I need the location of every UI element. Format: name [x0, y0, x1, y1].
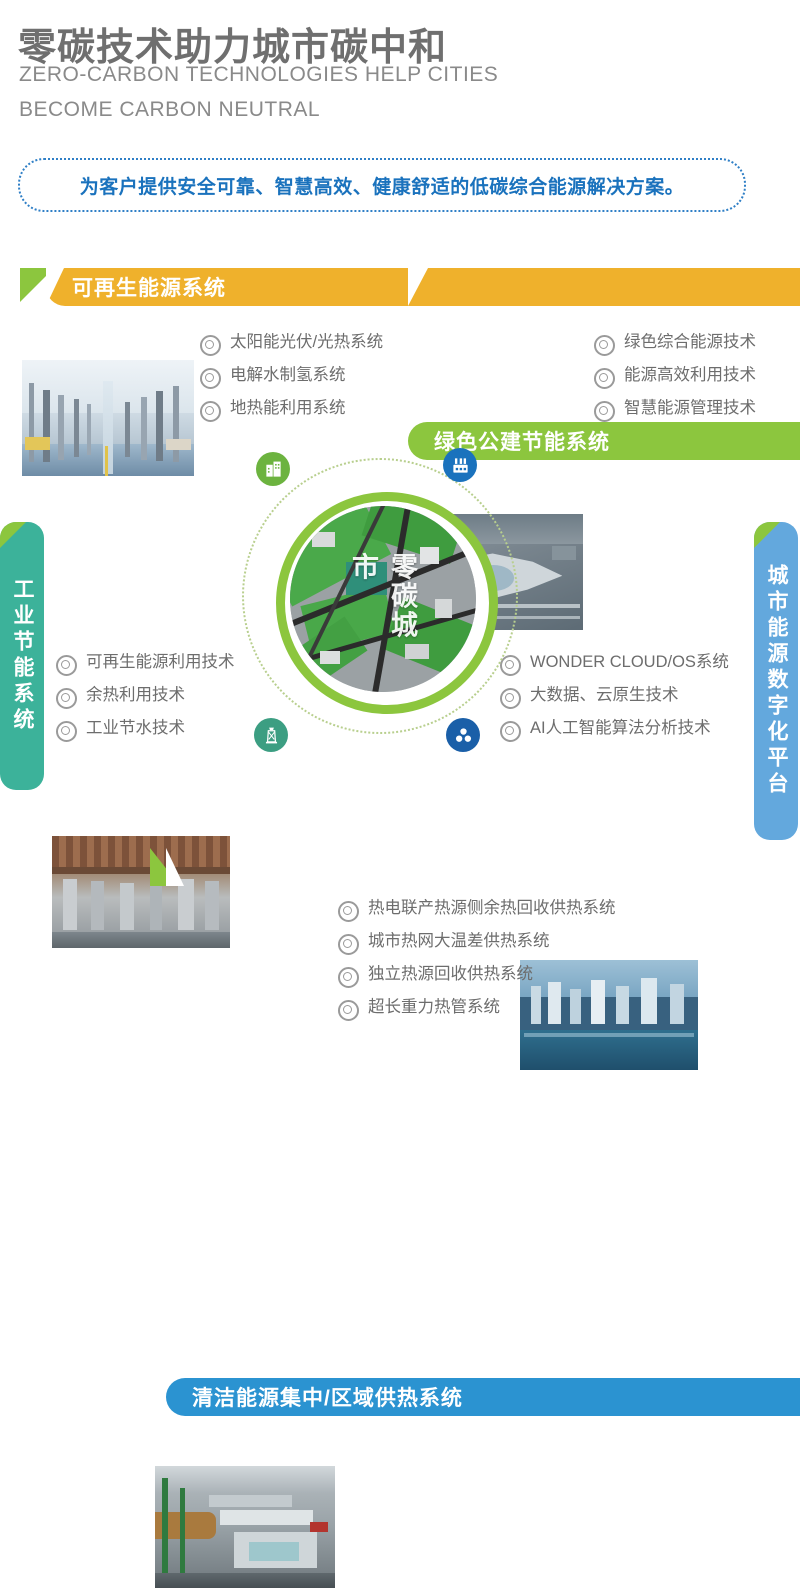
bullet-icon	[200, 335, 221, 356]
bullet-icon	[594, 368, 615, 389]
bullet-icon	[200, 401, 221, 422]
list-item[interactable]: AI人工智能算法分析技术	[500, 718, 729, 742]
industrial-photo	[52, 836, 230, 948]
clean-heating-photo	[155, 1466, 335, 1588]
renewable-label: 可再生能源系统	[72, 272, 226, 302]
renewable-notch	[46, 268, 64, 306]
list-item[interactable]: 太阳能光伏/光热系统	[200, 332, 383, 356]
center-label: 零碳城市	[344, 553, 422, 646]
renewable-photo	[22, 360, 194, 476]
bullet-icon	[56, 655, 77, 676]
bullet-icon	[56, 721, 77, 742]
bullet-icon	[594, 401, 615, 422]
page-subtitle-line1: ZERO-CARBON TECHNOLOGIES HELP CITIES	[19, 63, 498, 87]
list-item[interactable]: 超长重力热管系统	[338, 997, 616, 1021]
list-item[interactable]: 能源高效利用技术	[594, 365, 756, 389]
list-item[interactable]: 热电联产热源侧余热回收供热系统	[338, 898, 616, 922]
center-graphic: 零碳城市	[228, 452, 528, 772]
clean-heating-label: 清洁能源集中/区域供热系统	[192, 1382, 463, 1412]
digital-platform-item-list: WONDER CLOUD/OS系统 大数据、云原生技术 AI人工智能算法分析技术	[500, 652, 729, 751]
slogan-banner: 为客户提供安全可靠、智慧高效、健康舒适的低碳综合能源解决方案。	[18, 158, 746, 212]
slogan-text: 为客户提供安全可靠、智慧高效、健康舒适的低碳综合能源解决方案。	[80, 172, 685, 199]
molecule-icon[interactable]	[446, 718, 480, 752]
bullet-icon	[200, 368, 221, 389]
list-item[interactable]: WONDER CLOUD/OS系统	[500, 652, 729, 676]
clean-heating-notch	[166, 848, 184, 886]
bullet-icon	[594, 335, 615, 356]
industrial-item-list: 可再生能源利用技术 余热利用技术 工业节水技术	[56, 652, 235, 751]
clean-heating-header-pill[interactable]: 清洁能源集中/区域供热系统	[166, 1378, 800, 1416]
list-item[interactable]: 余热利用技术	[56, 685, 235, 709]
bullet-icon	[338, 967, 359, 988]
green-building-notch	[408, 268, 428, 306]
page-subtitle-line2: BECOME CARBON NEUTRAL	[19, 98, 320, 122]
list-item[interactable]: 工业节水技术	[56, 718, 235, 742]
digital-platform-label: 城市能源数字化平台	[761, 564, 791, 798]
digital-platform-vertical-tab[interactable]: 城市能源数字化平台	[754, 522, 798, 840]
list-item[interactable]: 独立热源回收供热系统	[338, 964, 616, 988]
green-building-item-list: 绿色综合能源技术 能源高效利用技术 智慧能源管理技术	[594, 332, 756, 431]
list-item[interactable]: 电解水制氢系统	[200, 365, 383, 389]
list-item[interactable]: 智慧能源管理技术	[594, 398, 756, 422]
list-item[interactable]: 大数据、云原生技术	[500, 685, 729, 709]
bullet-icon	[338, 934, 359, 955]
industrial-label: 工业节能系统	[7, 578, 37, 734]
bullet-icon	[56, 688, 77, 709]
bullet-icon	[338, 901, 359, 922]
list-item[interactable]: 可再生能源利用技术	[56, 652, 235, 676]
city-map-image: 零碳城市	[290, 506, 476, 692]
factory-icon[interactable]	[443, 448, 477, 482]
clean-heating-item-list: 热电联产热源侧余热回收供热系统 城市热网大温差供热系统 独立热源回收供热系统 超…	[338, 898, 616, 1030]
building-icon[interactable]	[256, 452, 290, 486]
industrial-green-accent	[0, 522, 26, 548]
bullet-icon	[338, 1000, 359, 1021]
list-item[interactable]: 绿色综合能源技术	[594, 332, 756, 356]
renewable-item-list: 太阳能光伏/光热系统 电解水制氢系统 地热能利用系统	[200, 332, 383, 431]
tower-icon[interactable]	[254, 718, 288, 752]
industrial-vertical-tab[interactable]: 工业节能系统	[0, 522, 44, 790]
digital-platform-green-accent	[754, 522, 780, 548]
list-item[interactable]: 地热能利用系统	[200, 398, 383, 422]
list-item[interactable]: 城市热网大温差供热系统	[338, 931, 616, 955]
